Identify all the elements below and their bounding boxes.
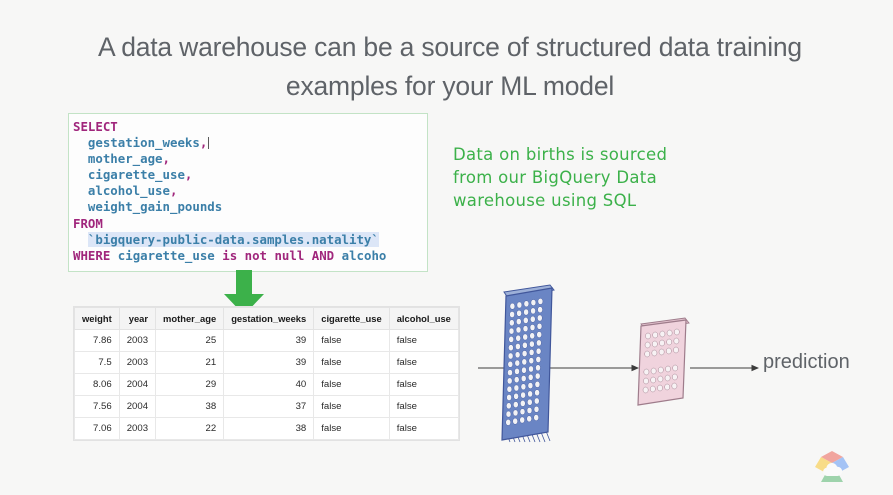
cell-mother-age: 25 <box>156 330 224 352</box>
column-header-weight: weight <box>75 308 120 330</box>
cell-cigarette-use: false <box>314 330 389 352</box>
cell-mother-age: 21 <box>156 352 224 374</box>
sql-keyword-where: WHERE <box>73 248 110 263</box>
annotation-line-3: warehouse using SQL <box>453 189 718 212</box>
cell-year: 2003 <box>119 330 155 352</box>
sql-code-block[interactable]: SELECT gestation_weeks, mother_age, ciga… <box>68 113 428 272</box>
cell-cigarette-use: false <box>314 396 389 418</box>
table-row: 7.56 2004 38 37 false false <box>75 396 459 418</box>
cell-mother-age: 22 <box>156 418 224 440</box>
cell-gestation-weeks: 38 <box>224 418 314 440</box>
sql-keyword-from: FROM <box>73 216 103 231</box>
text-caret <box>208 137 209 149</box>
cell-mother-age: 38 <box>156 396 224 418</box>
page-title: A data warehouse can be a source of stru… <box>60 28 840 106</box>
column-header-cigarette-use: cigarette_use <box>314 308 389 330</box>
cell-year: 2004 <box>119 396 155 418</box>
hidden-layer-slab <box>638 318 689 405</box>
input-layer-slab <box>502 285 554 442</box>
sql-column-weight-gain-pounds: weight_gain_pounds <box>88 199 222 214</box>
sql-column-alcohol-use: alcohol_use <box>88 183 170 198</box>
sql-table-reference: `bigquery-public-data.samples.natality` <box>88 232 379 247</box>
sql-column-mother-age: mother_age <box>88 151 163 166</box>
sql-keyword-and: AND <box>312 248 334 263</box>
cell-cigarette-use: false <box>314 352 389 374</box>
column-header-year: year <box>119 308 155 330</box>
table-row: 7.06 2003 22 38 false false <box>75 418 459 440</box>
cell-gestation-weeks: 39 <box>224 352 314 374</box>
cell-gestation-weeks: 39 <box>224 330 314 352</box>
cell-weight: 7.86 <box>75 330 120 352</box>
cell-year: 2004 <box>119 374 155 396</box>
sql-where-column: cigarette_use <box>118 248 215 263</box>
column-header-mother-age: mother_age <box>156 308 224 330</box>
annotation-line-2: from our BigQuery Data <box>453 166 718 189</box>
sql-where-column-2: alcoho <box>342 248 387 263</box>
page-title-line-1: A data warehouse can be a source of stru… <box>60 28 840 67</box>
sql-where-predicate: is not null <box>222 248 304 263</box>
table-row: 7.86 2003 25 39 false false <box>75 330 459 352</box>
table-row: 8.06 2004 29 40 false false <box>75 374 459 396</box>
slide-canvas: A data warehouse can be a source of stru… <box>0 0 893 495</box>
cell-year: 2003 <box>119 352 155 374</box>
cell-gestation-weeks: 40 <box>224 374 314 396</box>
annotation-line-1: Data on births is sourced <box>453 143 718 166</box>
sql-keyword-select: SELECT <box>73 119 118 134</box>
cell-cigarette-use: false <box>314 374 389 396</box>
cell-weight: 7.56 <box>75 396 120 418</box>
sql-comma-1: , <box>200 135 207 150</box>
table-header-row: weight year mother_age gestation_weeks c… <box>75 308 459 330</box>
cell-cigarette-use: false <box>314 418 389 440</box>
sql-column-gestation-weeks: gestation_weeks <box>88 135 200 150</box>
sql-code-text: SELECT gestation_weeks, mother_age, ciga… <box>69 114 427 264</box>
prediction-label: prediction <box>763 351 850 374</box>
query-result-table: weight year mother_age gestation_weeks c… <box>74 307 459 440</box>
cell-weight: 7.06 <box>75 418 120 440</box>
cell-weight: 7.5 <box>75 352 120 374</box>
handwritten-annotation: Data on births is sourced from our BigQu… <box>453 143 718 212</box>
sql-comma-4: , <box>170 183 177 198</box>
cell-weight: 8.06 <box>75 374 120 396</box>
cell-gestation-weeks: 37 <box>224 396 314 418</box>
cell-mother-age: 29 <box>156 374 224 396</box>
page-title-line-2: examples for your ML model <box>60 67 840 106</box>
table-row: 7.5 2003 21 39 false false <box>75 352 459 374</box>
google-cloud-logo <box>812 449 852 485</box>
column-header-gestation-weeks: gestation_weeks <box>224 308 314 330</box>
sql-comma-2: , <box>163 151 170 166</box>
sql-comma-3: , <box>185 167 192 182</box>
cell-year: 2003 <box>119 418 155 440</box>
sql-column-cigarette-use: cigarette_use <box>88 167 185 182</box>
